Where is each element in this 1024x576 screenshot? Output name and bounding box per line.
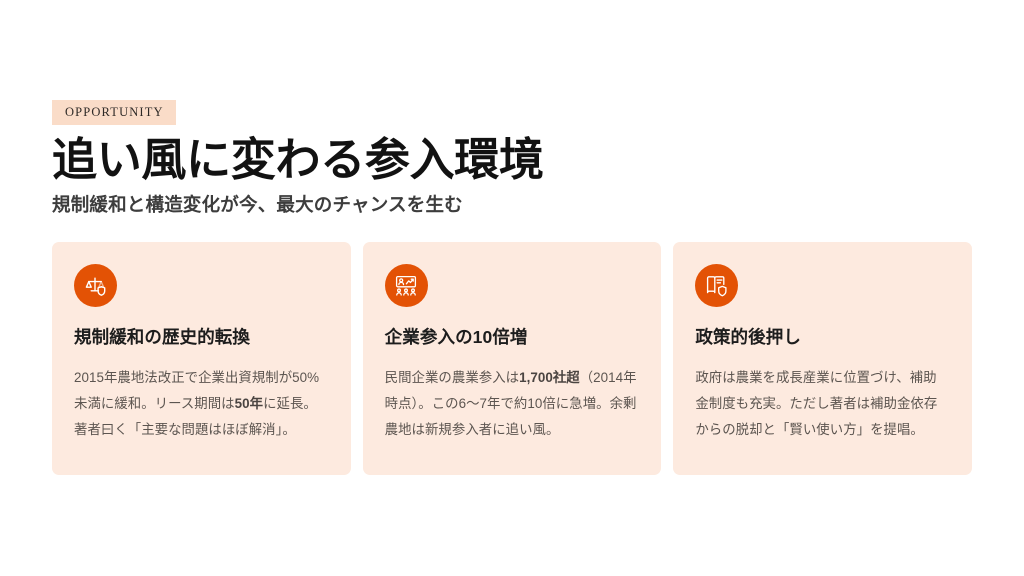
- opportunity-badge: OPPORTUNITY: [52, 100, 176, 125]
- card-title: 規制緩和の歴史的転換: [74, 327, 329, 349]
- card-body: 2015年農地法改正で企業出資規制が50%未満に緩和。リース期間は50年に延長。…: [74, 365, 329, 443]
- scale-shield-icon: [74, 264, 117, 307]
- card-grid: 規制緩和の歴史的転換 2015年農地法改正で企業出資規制が50%未満に緩和。リー…: [52, 242, 972, 475]
- card-title: 政策的後押し: [695, 327, 950, 349]
- card-regulatory-reform: 規制緩和の歴史的転換 2015年農地法改正で企業出資規制が50%未満に緩和。リー…: [52, 242, 351, 475]
- card-body: 民間企業の農業参入は1,700社超（2014年時点）。この6〜7年で約10倍に急…: [385, 365, 640, 443]
- card-body: 政府は農業を成長産業に位置づけ、補助金制度も充実。ただし著者は補助金依存からの脱…: [695, 365, 950, 443]
- presentation-audience-icon: [385, 264, 428, 307]
- page-title: 追い風に変わる参入環境: [52, 135, 972, 185]
- card-policy-support: 政策的後押し 政府は農業を成長産業に位置づけ、補助金制度も充実。ただし著者は補助…: [673, 242, 972, 475]
- slide-root: OPPORTUNITY 追い風に変わる参入環境 規制緩和と構造変化が今、最大のチ…: [0, 0, 1024, 576]
- slide-header: OPPORTUNITY 追い風に変わる参入環境 規制緩和と構造変化が今、最大のチ…: [52, 100, 972, 217]
- card-title: 企業参入の10倍増: [385, 327, 640, 349]
- card-corporate-entry: 企業参入の10倍増 民間企業の農業参入は1,700社超（2014年時点）。この6…: [363, 242, 662, 475]
- page-subtitle: 規制緩和と構造変化が今、最大のチャンスを生む: [52, 193, 972, 217]
- book-shield-icon: [695, 264, 738, 307]
